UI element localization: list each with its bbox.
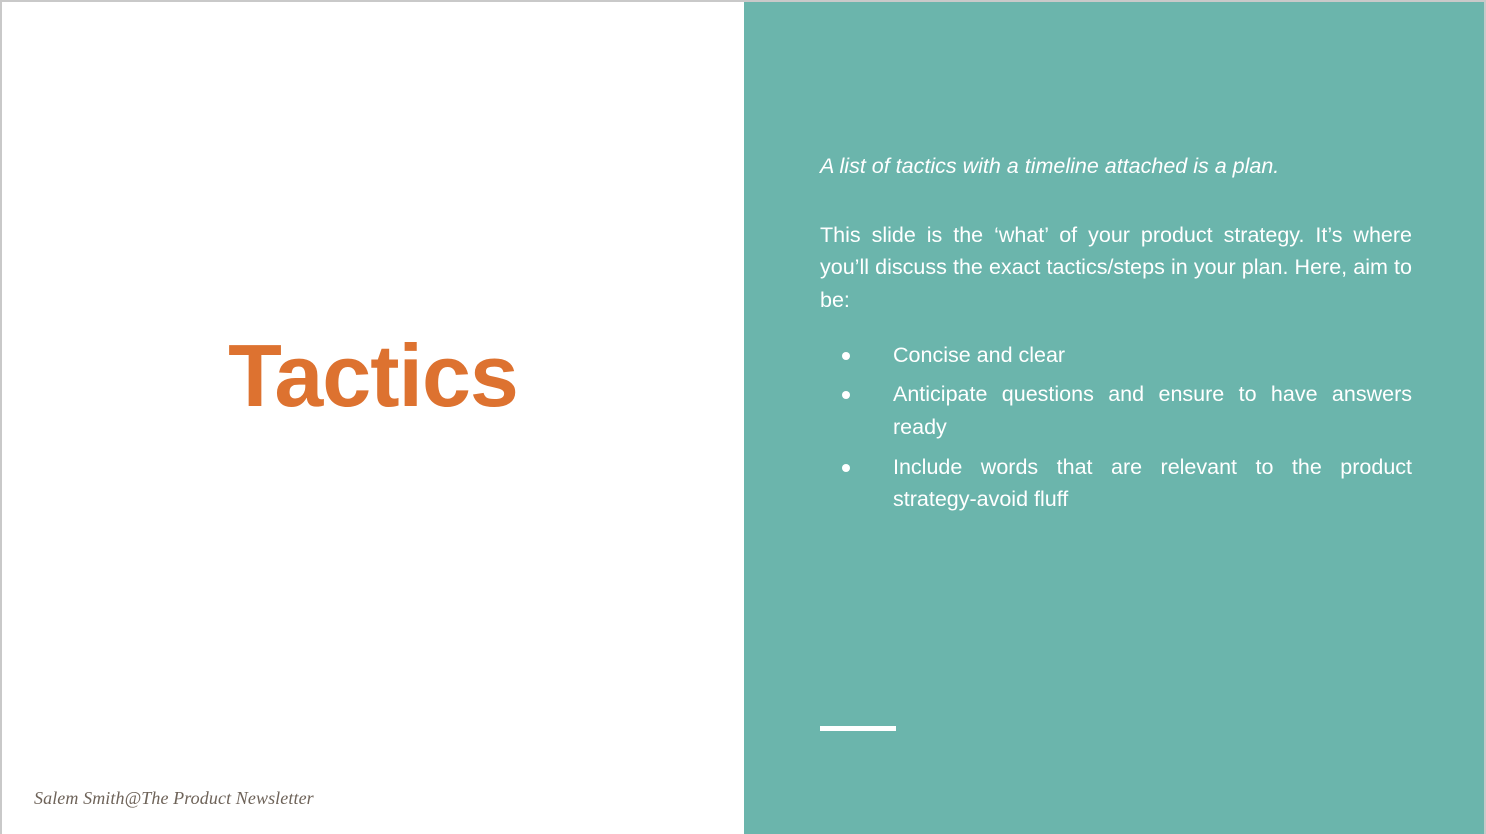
footer-credit: Salem Smith@The Product Newsletter: [34, 788, 314, 809]
bullet-dot-icon: [842, 464, 850, 472]
left-title-panel: Tactics Salem Smith@The Product Newslett…: [2, 2, 744, 834]
title-container: Tactics: [2, 2, 744, 762]
content-block: A list of tactics with a timeline attach…: [820, 150, 1412, 516]
body-paragraph: This slide is the ‘what’ of your product…: [820, 219, 1412, 317]
bullet-list: Concise and clear Anticipate questions a…: [820, 339, 1412, 516]
bullet-dot-icon: [842, 352, 850, 360]
bullet-dot-icon: [842, 391, 850, 399]
list-item-label: Concise and clear: [893, 343, 1065, 367]
right-content-panel: A list of tactics with a timeline attach…: [744, 2, 1486, 834]
quote-text: A list of tactics with a timeline attach…: [820, 150, 1412, 183]
list-item: Anticipate questions and ensure to have …: [820, 378, 1412, 443]
divider-rule: [820, 726, 896, 731]
slide-canvas: Tactics Salem Smith@The Product Newslett…: [0, 0, 1486, 834]
list-item-label: Include words that are relevant to the p…: [893, 455, 1412, 512]
page-title: Tactics: [228, 332, 518, 420]
list-item: Concise and clear: [820, 339, 1412, 372]
list-item: Include words that are relevant to the p…: [820, 451, 1412, 516]
list-item-label: Anticipate questions and ensure to have …: [893, 382, 1412, 439]
